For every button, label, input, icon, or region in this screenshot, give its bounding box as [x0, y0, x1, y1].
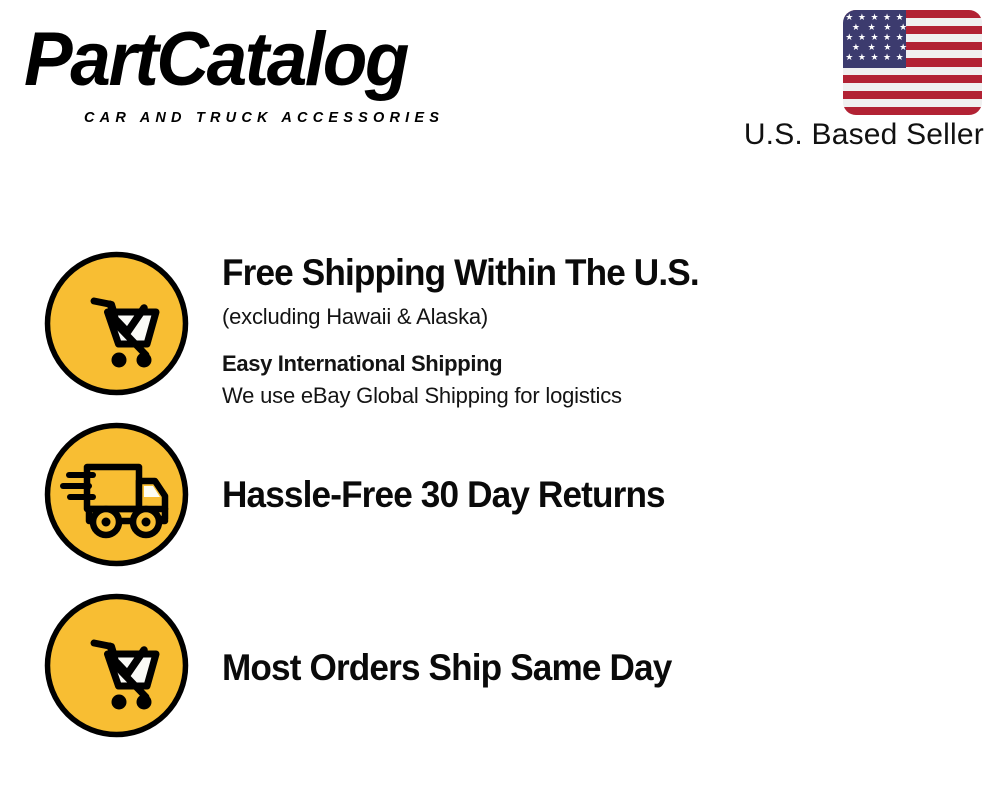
banner-header: PartCatalog CAR AND TRUCK ACCESSORIES ★★…	[0, 0, 1000, 170]
feature-text: Hassle-Free 30 Day Returns	[222, 421, 982, 516]
brand-wordmark: PartCatalog	[24, 22, 407, 98]
feature-title: Free Shipping Within The U.S.	[222, 252, 944, 294]
flag-stripe	[843, 67, 982, 75]
shopping-cart-check-icon	[43, 250, 190, 397]
flag-star-row: ★★★★★	[843, 52, 906, 63]
feature-title: Most Orders Ship Same Day	[222, 647, 944, 689]
flag-stripe	[843, 75, 982, 83]
brand-logo: PartCatalog CAR AND TRUCK ACCESSORIES	[24, 22, 494, 117]
flag-stripe	[843, 99, 982, 107]
flag-stripe	[843, 91, 982, 99]
feature-text: Free Shipping Within The U.S. (excluding…	[222, 250, 982, 411]
brand-tagline: CAR AND TRUCK ACCESSORIES	[84, 110, 444, 126]
shopping-cart-check-icon	[43, 592, 190, 739]
flag-stripe	[843, 83, 982, 91]
flag-stripe	[843, 107, 982, 115]
flag-canton: ★★★★★ ★★★★ ★★★★★ ★★★★ ★★★★★	[843, 10, 906, 68]
feature-text: Most Orders Ship Same Day	[222, 592, 982, 689]
feature-subtitle: We use eBay Global Shipping for logistic…	[222, 380, 982, 411]
us-based-seller-label: U.S. Based Seller	[744, 118, 984, 152]
delivery-truck-icon	[43, 421, 190, 568]
feature-subtitle: (excluding Hawaii & Alaska)	[222, 301, 982, 332]
feature-subtitle-strong: Easy International Shipping	[222, 348, 982, 379]
us-flag-icon: ★★★★★ ★★★★ ★★★★★ ★★★★ ★★★★★	[843, 10, 982, 115]
feature-title: Hassle-Free 30 Day Returns	[222, 474, 944, 516]
